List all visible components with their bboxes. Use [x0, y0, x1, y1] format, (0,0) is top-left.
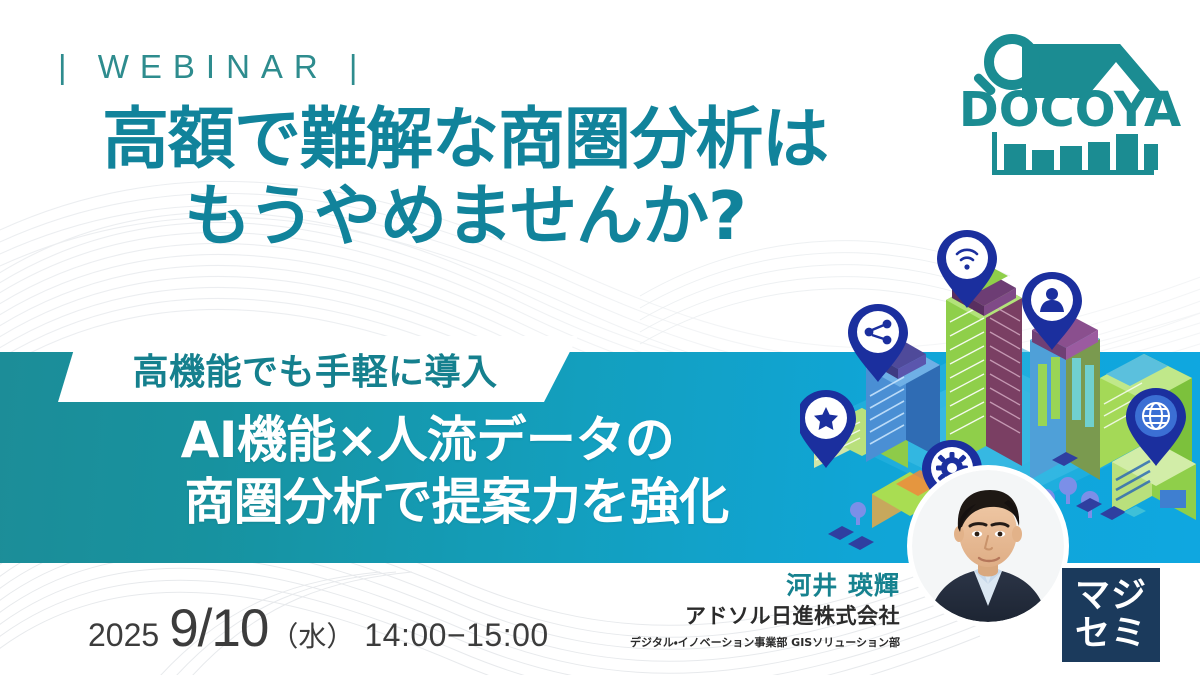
majisemi-host-logo: マジ セミ — [1062, 568, 1160, 662]
majisemi-line-2: セミ — [1075, 617, 1147, 652]
schedule-year: 2025 — [88, 617, 159, 654]
speaker-avatar — [912, 470, 1064, 622]
speaker-info: 河井 瑛輝 アドソル日進株式会社 デジタル・イノベーション事業部 GISソリュー… — [630, 572, 900, 650]
speaker-company: アドソル日進株式会社 — [630, 603, 900, 630]
speaker-department: デジタル・イノベーション事業部 GISソリューション部 — [630, 634, 900, 650]
schedule-month-day: 9/10 — [169, 598, 268, 659]
feature-badge-label: 高機能でも手軽に導入 — [132, 343, 503, 395]
band-headline: AI機能×人流データの 商圏分析で提案力を強化 — [0, 412, 855, 530]
docoya-product-logo: DOCOYA — [960, 22, 1182, 190]
schedule-time: 14:00−15:00 — [364, 617, 548, 654]
schedule-day-of-week: （水） — [270, 615, 354, 655]
feature-badge: 高機能でも手軽に導入 — [58, 336, 578, 402]
webinar-eyebrow-label: | WEBINAR | — [58, 48, 369, 86]
headline-line-1: 高額で難解な商圏分析は — [0, 104, 930, 175]
main-headline: 高額で難解な商圏分析は もうやめませんか? — [0, 104, 930, 252]
webinar-banner: | WEBINAR | 高額で難解な商圏分析は もうやめませんか? DOC — [0, 0, 1200, 675]
docoya-wordmark: DOCOYA — [960, 82, 1181, 138]
majisemi-line-1: マジ — [1075, 579, 1147, 614]
band-headline-line-2: 商圏分析で提案力を強化 — [0, 474, 855, 530]
headline-line-2: もうやめませんか? — [0, 181, 930, 252]
schedule-dateline: 2025 9/10 （水） 14:00−15:00 — [88, 598, 549, 659]
speaker-name: 河井 瑛輝 — [630, 572, 900, 601]
band-headline-line-1: AI機能×人流データの — [0, 412, 855, 468]
